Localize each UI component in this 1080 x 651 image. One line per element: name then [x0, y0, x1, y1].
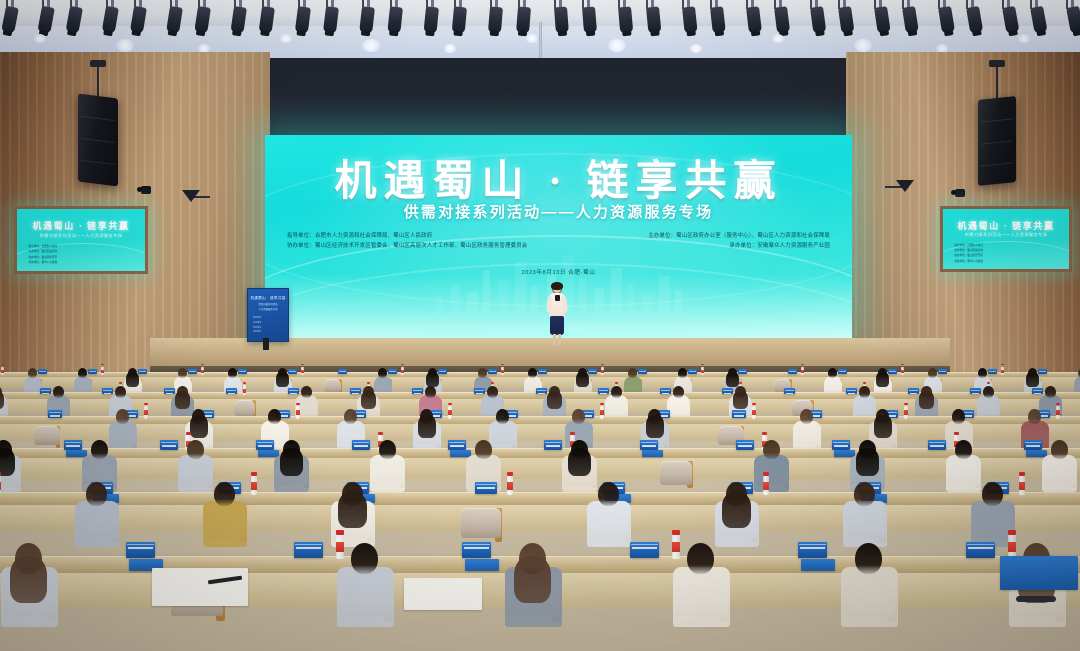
audience-head: [549, 386, 560, 398]
table-name-card: [160, 440, 178, 450]
audience-chair: [461, 508, 501, 538]
bottle-cap: [987, 382, 990, 384]
audience-head: [578, 368, 587, 378]
bottle-cap: [367, 382, 370, 384]
bottle-cap: [501, 364, 504, 365]
audience-head: [572, 409, 585, 424]
water-bottle: [101, 367, 104, 375]
audience-head: [177, 386, 188, 398]
audience-head: [53, 386, 64, 398]
table-skirt: [0, 505, 1080, 531]
document-folder: [1000, 556, 1078, 590]
bottle-cap: [201, 364, 204, 365]
table-name-card: [164, 388, 175, 394]
audience-head: [15, 543, 42, 574]
audience-torso: [178, 455, 213, 492]
ceiling-downlight: [608, 39, 626, 52]
audience-head: [128, 368, 137, 378]
audience-torso: [841, 567, 898, 627]
wall-sconce-left: [182, 190, 200, 202]
presenter-leg-right: [558, 334, 561, 345]
water-bottle: [0, 475, 1, 495]
stage-light-fixture: [359, 6, 375, 33]
speaker-rigging-left: [97, 62, 99, 96]
open-notepad: [152, 568, 248, 606]
audience-torso: [489, 421, 517, 450]
water-bottle: [201, 367, 204, 375]
bottle-cap: [507, 472, 513, 476]
audience-head: [342, 482, 363, 506]
stage-light-fixture: [130, 6, 147, 34]
presenter-arm-right: [561, 296, 568, 313]
bottle-cap: [601, 364, 604, 365]
water-bottle: [600, 406, 604, 419]
table-name-card: [1038, 369, 1047, 374]
table-name-card: [1032, 388, 1043, 394]
table-name-card: [488, 369, 497, 374]
table-name-card: [732, 410, 746, 418]
side-led-screen-right: 机遇蜀山 · 链享共赢 供需对接系列活动——人力资源服务专场 指导单位：合肥市人…: [940, 206, 1072, 272]
table-name-card: [350, 388, 361, 394]
audience-head: [116, 409, 129, 424]
table-name-card: [126, 542, 155, 558]
audience-head: [1051, 440, 1068, 459]
audience-head: [1028, 368, 1037, 378]
audience-chair: [324, 379, 341, 392]
stage-light-fixture: [323, 6, 339, 33]
water-bottle: [251, 475, 257, 495]
table-name-card: [475, 482, 497, 494]
table-name-card: [288, 388, 299, 394]
bottle-cap: [144, 403, 148, 405]
speaker-rigging-right: [996, 62, 998, 98]
bottle-cap: [954, 432, 959, 435]
audience-head: [983, 386, 994, 398]
kt-board-lines: 指导单位主办单位 协办单位承办单位: [253, 316, 283, 335]
audience-head: [301, 386, 312, 398]
audience-torso: [337, 567, 394, 627]
table-name-card: [288, 369, 297, 374]
audience-head: [978, 368, 987, 378]
podium-kt-board: 机遇蜀山 · 链享共赢 供需对接系列活动人力资源服务专场 指导单位主办单位 协办…: [247, 288, 289, 342]
table-name-card: [538, 369, 547, 374]
audience-head: [283, 440, 300, 459]
table-name-card: [722, 388, 733, 394]
audience-head: [351, 543, 378, 574]
audience-head: [187, 440, 204, 459]
line-array-speaker-left: [78, 94, 118, 187]
audience-head: [278, 368, 287, 378]
bottle-cap: [863, 382, 866, 384]
audience-head: [854, 482, 875, 506]
table-name-card: [970, 388, 981, 394]
water-bottle: [1019, 475, 1025, 495]
audience-head: [0, 440, 12, 459]
table-name-card: [138, 369, 147, 374]
audience-head: [678, 368, 687, 378]
table-name-card: [188, 369, 197, 374]
stage-light-fixture: [618, 6, 633, 33]
audience-head: [1028, 409, 1041, 424]
audience-head: [952, 409, 965, 424]
stage-light-fixture: [682, 6, 698, 33]
audience-torso: [1042, 455, 1077, 492]
table-name-card: [438, 369, 447, 374]
audience-head: [876, 409, 889, 424]
audience-head: [855, 543, 882, 574]
audience-head: [955, 440, 972, 459]
presenter-leg-left: [553, 334, 556, 345]
stage-light-fixture: [259, 6, 275, 34]
audience-head: [728, 368, 737, 378]
audience-head: [91, 440, 108, 459]
table-name-card: [352, 440, 370, 450]
bottle-cap: [491, 382, 494, 384]
bottle-cap: [739, 382, 742, 384]
table-name-card: [88, 369, 97, 374]
table-name-card: [638, 369, 647, 374]
audience-head: [528, 368, 537, 378]
bottle-cap: [752, 403, 756, 405]
water-bottle: [1001, 367, 1004, 375]
audience-torso: [843, 501, 887, 547]
audience-torso: [946, 455, 981, 492]
audience-head: [86, 482, 107, 506]
water-bottle: [507, 475, 513, 495]
stage-light-fixture: [387, 6, 403, 33]
table-name-card: [238, 369, 247, 374]
water-bottle: [243, 385, 246, 395]
bottle-cap: [448, 403, 452, 405]
audience-head: [214, 482, 235, 506]
ceiling-downlight: [772, 34, 784, 43]
audience-head: [571, 440, 588, 459]
side-led-title-left: 机遇蜀山 · 链享共赢: [17, 219, 145, 232]
table-name-card: [738, 369, 747, 374]
stage-light-fixture: [452, 6, 467, 33]
table-name-card: [388, 369, 397, 374]
bottle-cap: [570, 432, 575, 435]
table-name-card: [412, 388, 423, 394]
table-name-card: [928, 440, 946, 450]
table-name-card: [630, 542, 659, 558]
water-bottle: [401, 367, 404, 375]
bottle-cap: [762, 432, 767, 435]
bottle-cap: [672, 530, 680, 535]
bottle-cap: [0, 472, 1, 476]
bottle-cap: [763, 472, 769, 476]
document-folder: [465, 559, 499, 571]
audience-torso: [203, 501, 247, 547]
side-led-title-right: 机遇蜀山 · 链享共赢: [943, 219, 1069, 232]
presenter-skirt: [550, 316, 564, 335]
table-name-card: [838, 369, 847, 374]
audience-head: [115, 386, 126, 398]
ceiling-downlight: [362, 39, 380, 52]
table-name-card: [256, 440, 274, 450]
audience-head: [344, 409, 357, 424]
ceiling-downlight: [116, 39, 134, 52]
table-name-card: [448, 440, 466, 450]
audience-chair: [660, 461, 692, 485]
water-bottle: [801, 367, 804, 375]
audience-torso: [754, 455, 789, 492]
audience-head: [420, 409, 433, 424]
led-organizer-block: 指导单位：合肥市人力资源和社会保障局、蜀山区人民政府 主办单位：蜀山区政府办公室…: [287, 231, 830, 252]
stage-light-fixture: [424, 6, 439, 33]
kt-board-subtitle: 供需对接系列活动人力资源服务专场: [248, 303, 288, 312]
water-bottle: [672, 533, 680, 559]
table-name-card: [338, 369, 347, 374]
stage-light-fixture: [230, 6, 247, 34]
bottle-cap: [600, 403, 604, 405]
water-bottle: [296, 406, 300, 419]
audience-head: [519, 543, 546, 574]
pen: [1016, 596, 1056, 602]
water-bottle: [701, 367, 704, 375]
audience-head: [800, 409, 813, 424]
audience-head: [687, 543, 714, 574]
audience-head: [763, 440, 780, 459]
audience-head: [673, 386, 684, 398]
audience-head: [859, 386, 870, 398]
audience-head: [735, 386, 746, 398]
stage-light-fixture: [102, 6, 119, 34]
bottle-cap: [1, 364, 4, 365]
side-led-lines-left: 指导单位：合肥市人社局主办单位：蜀山区政府办 协办单位：蜀山区经开区承办单位：聚…: [29, 244, 58, 266]
table-name-card: [40, 388, 51, 394]
led-main-title: 机遇蜀山 · 链享共赢: [265, 147, 852, 208]
audience-head: [475, 440, 492, 459]
bottle-cap: [301, 364, 304, 365]
audience-head: [648, 409, 661, 424]
organizer-coorganizer-unit: 协办单位：蜀山区经济技术开发区管委会、蜀山区高层次人才工作部、蜀山区政务服务管理…: [287, 241, 527, 251]
stage-light-fixture: [1066, 6, 1080, 34]
audience-head: [928, 368, 937, 378]
stage-light-fixture: [295, 6, 311, 33]
table-name-card: [1024, 440, 1042, 450]
kt-board-title: 机遇蜀山 · 链享共赢: [248, 296, 288, 301]
ceiling-downlight: [526, 34, 538, 43]
side-led-screen-left: 机遇蜀山 · 链享共赢 供需对接系列活动——人力资源服务专场 指导单位：合肥市人…: [14, 206, 148, 274]
stage-light-fixture: [646, 6, 661, 33]
audience-head: [363, 386, 374, 398]
table-name-card: [846, 388, 857, 394]
table-name-card: [640, 440, 658, 450]
table-name-card: [688, 369, 697, 374]
wall-camera-left: [141, 186, 151, 194]
bottle-cap: [1001, 364, 1004, 365]
table-name-card: [798, 542, 827, 558]
table-name-card: [102, 388, 113, 394]
bottle-cap: [401, 364, 404, 365]
audience-torso: [370, 455, 405, 492]
audience-chair: [34, 426, 60, 445]
ceiling-downlight: [1018, 34, 1030, 43]
audience-torso: [673, 567, 730, 627]
audience-chair: [234, 400, 255, 416]
water-bottle: [1, 367, 4, 375]
wall-camera-right: [955, 189, 965, 197]
water-bottle: [301, 367, 304, 375]
stage-light-fixture: [554, 7, 569, 34]
water-bottle: [1056, 406, 1060, 419]
led-date-line: 2023年8月13日 合肥·蜀山: [265, 268, 852, 276]
table-name-card: [536, 388, 547, 394]
water-bottle: [901, 367, 904, 375]
presenter-on-stage: [546, 283, 568, 345]
presenter-microphone: [555, 295, 560, 301]
table-name-card: [966, 542, 995, 558]
bottle-cap: [615, 382, 618, 384]
wall-sconce-right: [896, 180, 914, 192]
open-notepad: [404, 578, 482, 610]
bottle-cap: [119, 382, 122, 384]
audience-head: [611, 386, 622, 398]
side-led-subtitle-left: 供需对接系列活动——人力资源服务专场: [17, 233, 145, 239]
audience-head: [478, 368, 487, 378]
audience-head: [878, 368, 887, 378]
stage-light-fixture: [488, 6, 503, 33]
organizer-undertaker-unit: 承办单位：安徽聚众人力资源服务产业园: [729, 241, 830, 251]
table-name-card: [294, 542, 323, 558]
bottle-cap: [701, 364, 704, 365]
table-name-card: [48, 410, 62, 418]
audience-torso: [109, 421, 137, 450]
audience-head: [178, 368, 187, 378]
conference-hall-photo: 机遇蜀山 · 链享共赢 供需对接系列活动——人力资源服务专场 指导单位：合肥市人…: [0, 0, 1080, 651]
table-name-card: [226, 388, 237, 394]
table-name-card: [598, 388, 609, 394]
speaker-yoke-right: [989, 60, 1005, 67]
bottle-cap: [1008, 530, 1016, 535]
water-bottle: [601, 367, 604, 375]
table-skirt: [0, 424, 1080, 441]
audience-torso: [75, 501, 119, 547]
table-name-card: [588, 369, 597, 374]
table-name-card: [544, 440, 562, 450]
audience-head: [982, 482, 1003, 506]
audience-head: [726, 482, 747, 506]
water-bottle: [336, 533, 344, 559]
audience-torso: [587, 501, 631, 547]
bottle-cap: [1019, 472, 1025, 476]
ceiling-downlight: [444, 44, 456, 53]
audience-head: [268, 409, 281, 424]
audience-head: [228, 368, 237, 378]
table-name-card: [938, 369, 947, 374]
table-name-card: [736, 440, 754, 450]
bottle-cap: [904, 403, 908, 405]
bottle-cap: [186, 432, 191, 435]
audience-head: [828, 368, 837, 378]
audience-head: [425, 386, 436, 398]
table-name-card: [474, 388, 485, 394]
water-bottle: [763, 475, 769, 495]
audience-head: [192, 409, 205, 424]
side-led-subtitle-right: 供需对接系列活动——人力资源服务专场: [943, 232, 1069, 238]
stage-light-fixture: [582, 6, 597, 33]
water-bottle: [144, 406, 148, 419]
audience-head: [1045, 386, 1056, 398]
ceiling-downlight: [690, 44, 702, 53]
water-bottle: [448, 406, 452, 419]
table-name-card: [988, 369, 997, 374]
table-name-card: [38, 369, 47, 374]
table-name-card: [788, 369, 797, 374]
line-array-speaker-right: [978, 96, 1016, 186]
bottle-cap: [296, 403, 300, 405]
water-bottle: [501, 367, 504, 375]
bottle-cap: [1056, 403, 1060, 405]
stage-light-fixture: [194, 6, 211, 34]
organizer-row: 协办单位：蜀山区经济技术开发区管委会、蜀山区高层次人才工作部、蜀山区政务服务管理…: [287, 241, 830, 251]
audience-head: [428, 368, 437, 378]
document-folder: [801, 559, 835, 571]
table-name-card: [888, 369, 897, 374]
ceiling-downlight: [854, 39, 872, 52]
table-skirt: [0, 458, 1080, 479]
side-led-lines-right: 指导单位：合肥市人社局主办单位：蜀山区政府办 协办单位：蜀山区经开区承办单位：聚…: [954, 243, 983, 265]
table-name-card: [832, 440, 850, 450]
table-name-card: [908, 388, 919, 394]
conference-table: [0, 492, 1080, 506]
organizer-guide-unit: 指导单位：合肥市人力资源和社会保障局、蜀山区人民政府: [287, 231, 432, 241]
table-name-card: [784, 388, 795, 394]
audience-head: [859, 440, 876, 459]
document-folder: [642, 450, 663, 457]
ceiling-downlight: [280, 34, 292, 43]
bottle-cap: [378, 432, 383, 435]
bottle-cap: [243, 382, 246, 384]
stage-light-fixture: [516, 7, 531, 34]
audience-head: [379, 440, 396, 459]
organizer-row: 指导单位：合肥市人力资源和社会保障局、蜀山区人民政府 主办单位：蜀山区政府办公室…: [287, 231, 830, 241]
audience-head: [921, 386, 932, 398]
table-name-card: [462, 542, 491, 558]
speaker-yoke-left: [90, 60, 106, 67]
stage-light-fixture: [710, 6, 726, 33]
audience-head: [28, 368, 37, 378]
water-bottle: [904, 406, 908, 419]
audience-head: [628, 368, 637, 378]
bottle-cap: [101, 364, 104, 365]
bottle-cap: [801, 364, 804, 365]
audience-head: [598, 482, 619, 506]
bottle-cap: [901, 364, 904, 365]
water-bottle: [752, 406, 756, 419]
organizer-host-unit: 主办单位：蜀山区政府办公室（服务中心）、蜀山区人力资源和社会保障局: [648, 231, 830, 241]
audience-head: [378, 368, 387, 378]
bottle-cap: [336, 530, 344, 535]
kt-board-stand: [263, 338, 269, 350]
audience-head: [78, 368, 87, 378]
ceiling-downlight: [34, 34, 46, 43]
audience-head: [496, 409, 509, 424]
presenter-hair: [551, 282, 563, 290]
stage-light-fixture: [166, 6, 183, 34]
table-name-card: [660, 388, 671, 394]
led-subtitle: 供需对接系列活动——人力资源服务专场: [265, 201, 852, 222]
bottle-cap: [251, 472, 257, 476]
audience-head: [487, 386, 498, 398]
table-name-card: [64, 440, 82, 450]
audience-torso: [793, 421, 821, 450]
